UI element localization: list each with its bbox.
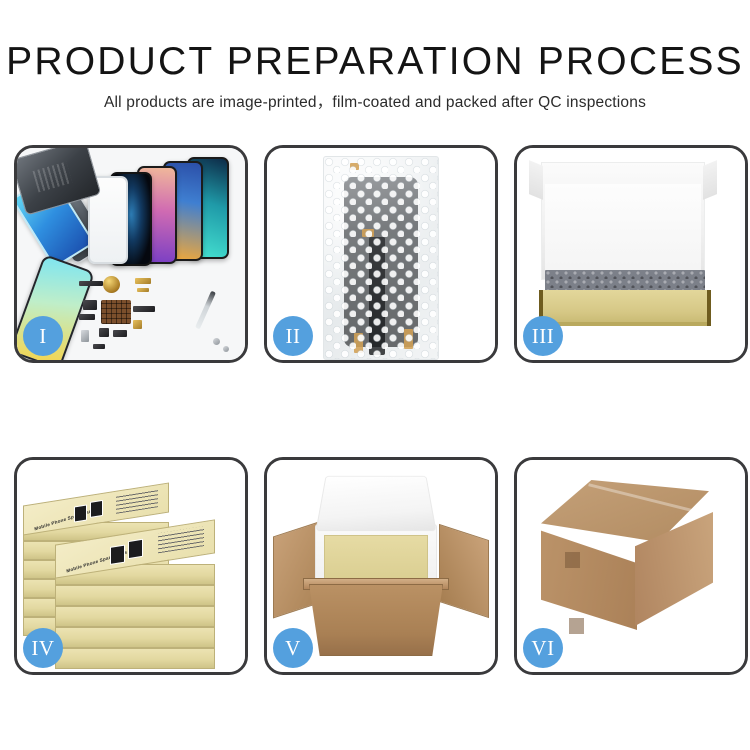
product-preparation-page: PRODUCT PREPARATION PROCESS All products…	[0, 0, 750, 750]
bubble-wrap-bag	[323, 156, 439, 360]
step-panel-2: II	[264, 145, 498, 363]
page-title: PRODUCT PREPARATION PROCESS	[0, 40, 750, 84]
spare-part-chip	[83, 300, 97, 310]
stacked-box	[55, 606, 215, 627]
box-spec-lines	[158, 526, 204, 553]
box-front-yellow	[539, 290, 711, 326]
spare-part-chip	[213, 338, 220, 345]
step-panel-1: I	[14, 145, 248, 363]
step-badge-5: V	[273, 628, 313, 668]
page-subtitle: All products are image-printed，film-coat…	[0, 93, 750, 113]
page-header: PRODUCT PREPARATION PROCESS All products…	[0, 0, 750, 113]
bubble-texture	[324, 157, 438, 359]
stacked-box	[55, 648, 215, 669]
spare-part-chip	[133, 320, 142, 329]
step-panel-4: Mobile Phone Spare Parts Mobile Phone Sp…	[14, 457, 248, 675]
box-product-image	[74, 504, 87, 522]
step-panel-5: V	[264, 457, 498, 675]
spare-part-chip	[79, 314, 95, 320]
box-spec-lines	[116, 489, 158, 514]
box-product-image	[90, 500, 103, 518]
step-badge-4: IV	[23, 628, 63, 668]
spare-part-chip	[99, 328, 109, 337]
process-steps-grid: I II	[14, 145, 748, 678]
step-panel-6: VI	[514, 457, 748, 675]
carton-flap-right	[439, 524, 489, 618]
vibrator-motor-part	[103, 276, 120, 293]
step-badge-6: VI	[523, 628, 563, 668]
step-badge-2: II	[273, 316, 313, 356]
foam-sheet-white	[545, 184, 701, 278]
spare-part-chip	[137, 288, 149, 292]
carton-left-face	[541, 522, 637, 630]
spare-part-chip	[93, 344, 105, 349]
spare-part-chip	[113, 330, 127, 337]
circuit-board-part	[101, 300, 131, 324]
step-panel-3: III	[514, 145, 748, 363]
step-badge-3: III	[523, 316, 563, 356]
spare-part-chip	[223, 346, 229, 352]
screwdriver-tool	[195, 291, 216, 330]
box-product-image	[110, 545, 125, 565]
stacked-box	[55, 627, 215, 648]
spare-part-chip	[81, 330, 89, 342]
stacked-box	[55, 585, 215, 606]
spare-part-chip	[133, 306, 155, 312]
box-product-image	[128, 539, 143, 559]
carton-body	[309, 584, 443, 656]
grey-bubble-sheet	[545, 270, 705, 292]
foam-box-lid	[315, 476, 436, 531]
spare-part-chip	[79, 281, 103, 286]
carton-tape-patch	[569, 618, 584, 634]
spare-part-chip	[135, 278, 151, 284]
step-badge-1: I	[23, 316, 63, 356]
carton-tape-patch	[565, 552, 580, 568]
